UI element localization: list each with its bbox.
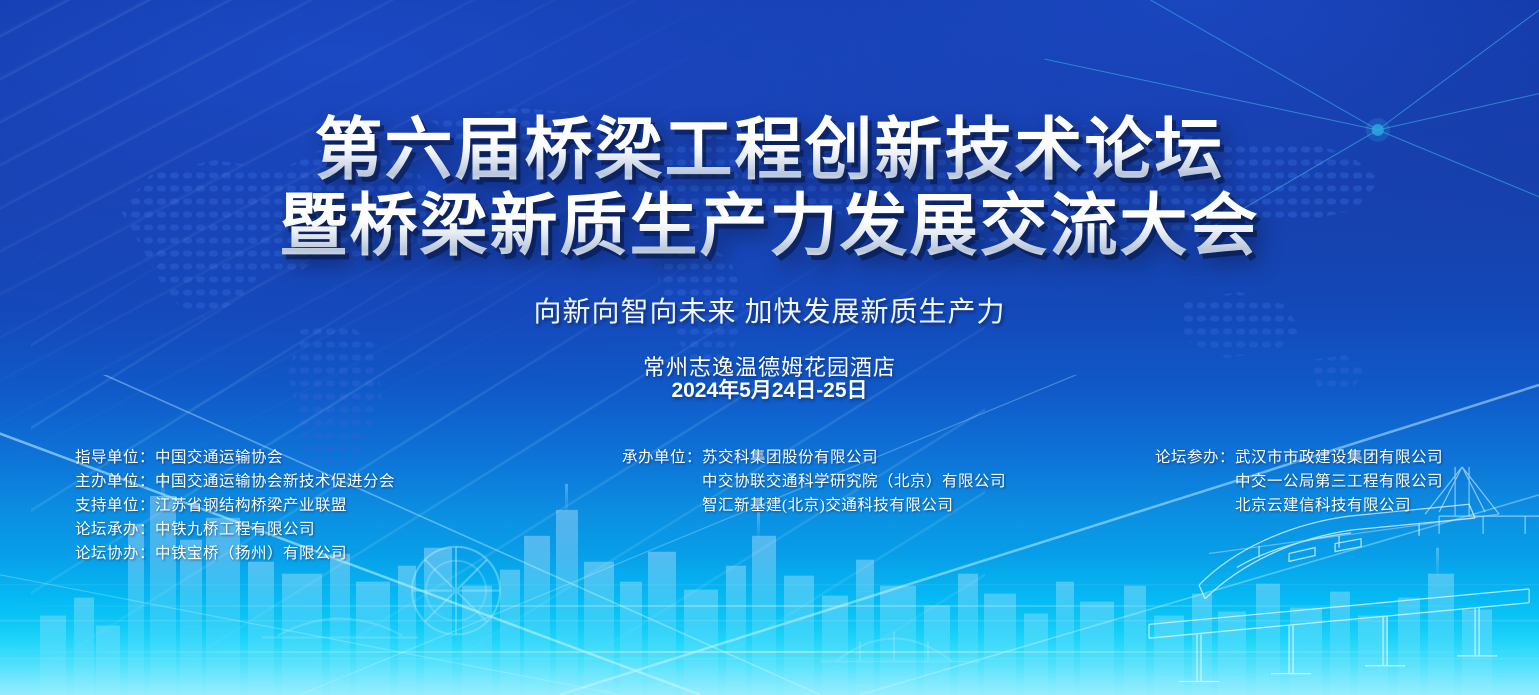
credit-row: 指导单位： 中国交通运输协会	[75, 446, 395, 470]
credit-value: 中交一公局第三工程有限公司	[1235, 470, 1443, 494]
credit-row: 论坛参办： 中交一公局第三工程有限公司	[1155, 470, 1443, 494]
credit-row: 承办单位： 智汇新基建(北京)交通科技有限公司	[622, 494, 1006, 518]
credit-value: 苏交科集团股份有限公司	[702, 446, 878, 470]
credits-column-right: 论坛参办： 武汉市市政建设集团有限公司 论坛参办： 中交一公局第三工程有限公司 …	[1155, 446, 1443, 518]
page-title-line-1: 第六届桥梁工程创新技术论坛	[0, 112, 1539, 188]
credit-row: 承办单位： 中交协联交通科学研究院（北京）有限公司	[622, 470, 1006, 494]
credit-label: 支持单位：	[75, 494, 155, 518]
credit-value: 北京云建信科技有限公司	[1235, 494, 1411, 518]
event-date: 2024年5月24日-25日	[0, 377, 1539, 405]
credit-label: 论坛参办：	[1155, 446, 1235, 470]
credit-label: 论坛承办：	[75, 518, 155, 542]
credit-row: 主办单位： 中国交通运输协会新技术促进分会	[75, 470, 395, 494]
credit-row: 论坛协办： 中铁宝桥（扬州）有限公司	[75, 542, 395, 566]
credit-row: 论坛参办： 武汉市市政建设集团有限公司	[1155, 446, 1443, 470]
credit-label: 承办单位：	[622, 446, 702, 470]
credit-row: 承办单位： 苏交科集团股份有限公司	[622, 446, 1006, 470]
credits-column-center: 承办单位： 苏交科集团股份有限公司 承办单位： 中交协联交通科学研究院（北京）有…	[622, 446, 1006, 518]
conference-banner: 第六届桥梁工程创新技术论坛 暨桥梁新质生产力发展交流大会 向新向智向未来 加快发…	[0, 0, 1539, 695]
credit-value: 中交协联交通科学研究院（北京）有限公司	[702, 470, 1006, 494]
credit-value: 武汉市市政建设集团有限公司	[1235, 446, 1443, 470]
credit-label: 论坛协办：	[75, 542, 155, 566]
credit-row: 论坛承办： 中铁九桥工程有限公司	[75, 518, 395, 542]
credit-value: 中国交通运输协会	[155, 446, 283, 470]
credit-value: 江苏省钢结构桥梁产业联盟	[155, 494, 347, 518]
credit-value: 中国交通运输协会新技术促进分会	[155, 470, 395, 494]
credit-value: 中铁九桥工程有限公司	[155, 518, 315, 542]
credit-label: 指导单位：	[75, 446, 155, 470]
credit-value: 中铁宝桥（扬州）有限公司	[155, 542, 347, 566]
credit-label: 主办单位：	[75, 470, 155, 494]
credits-section: 指导单位： 中国交通运输协会 主办单位： 中国交通运输协会新技术促进分会 支持单…	[0, 446, 1539, 566]
title-block: 第六届桥梁工程创新技术论坛 暨桥梁新质生产力发展交流大会	[0, 112, 1539, 264]
page-title-line-2: 暨桥梁新质生产力发展交流大会	[0, 188, 1539, 264]
credit-row: 论坛参办： 北京云建信科技有限公司	[1155, 494, 1443, 518]
subtitle: 向新向智向未来 加快发展新质生产力	[0, 296, 1539, 330]
credit-value: 智汇新基建(北京)交通科技有限公司	[702, 494, 953, 518]
credit-row: 支持单位： 江苏省钢结构桥梁产业联盟	[75, 494, 395, 518]
credits-column-left: 指导单位： 中国交通运输协会 主办单位： 中国交通运输协会新技术促进分会 支持单…	[75, 446, 395, 566]
